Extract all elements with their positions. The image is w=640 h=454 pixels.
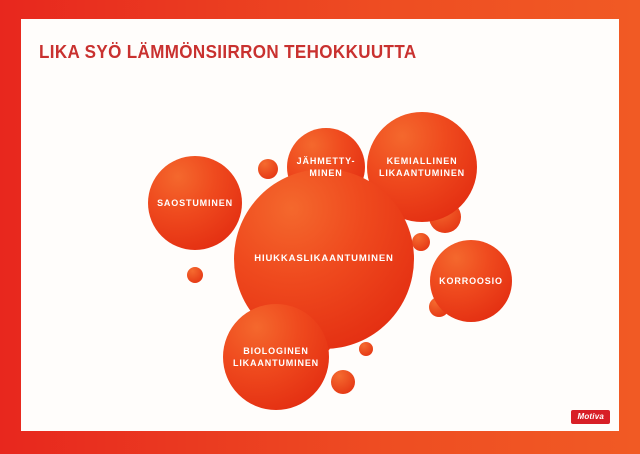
accent-bubble — [359, 342, 373, 356]
slide-root: LIKA SYÖ LÄMMÖNSIIRRON TEHOKKUUTTA SAOST… — [0, 0, 640, 454]
accent-bubble — [412, 233, 430, 251]
accent-bubble — [258, 159, 278, 179]
main-bubble-layer — [148, 112, 512, 410]
bubble[interactable] — [148, 156, 242, 250]
accent-bubble — [331, 370, 355, 394]
accent-bubble — [187, 267, 203, 283]
slide-canvas: LIKA SYÖ LÄMMÖNSIIRRON TEHOKKUUTTA SAOST… — [21, 19, 619, 431]
bubble[interactable] — [430, 240, 512, 322]
bubble[interactable] — [223, 304, 329, 410]
bubble-chart — [21, 19, 619, 431]
motiva-logo: Motiva — [571, 410, 610, 424]
